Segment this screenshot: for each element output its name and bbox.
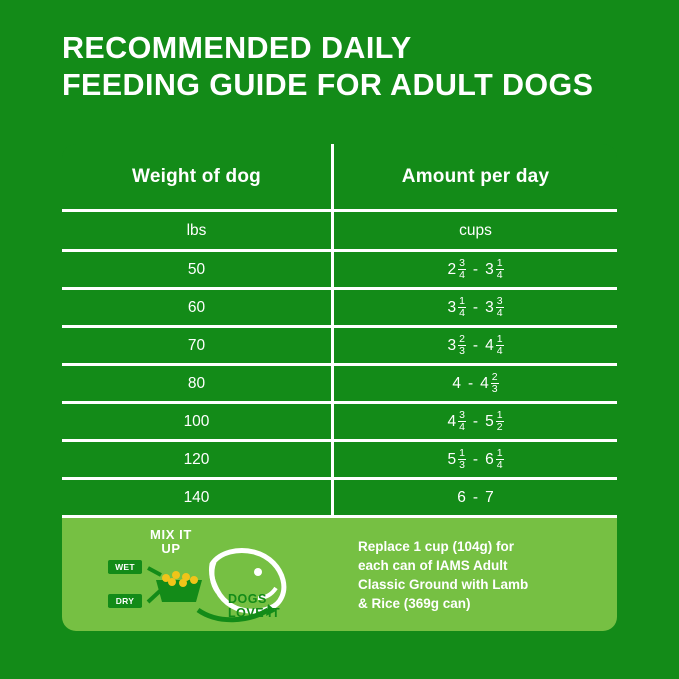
amount-range: 3 2 3 - 4 1 4 [447, 334, 503, 357]
table-row: 70 3 2 3 - 4 1 4 [62, 328, 617, 366]
amount-range: 5 1 3 - 6 1 4 [447, 448, 503, 471]
low-denominator: 4 [458, 269, 466, 281]
page-title-line-2: FEEDING GUIDE FOR ADULT DOGS [62, 67, 662, 104]
low-numerator: 1 [458, 296, 466, 307]
table-row: 120 5 1 3 - 6 1 4 [62, 442, 617, 480]
high-whole: 6 [485, 452, 494, 468]
high-whole: 4 [485, 338, 494, 354]
low-denominator: 3 [458, 345, 466, 357]
low-whole: 5 [447, 452, 456, 468]
low-whole: 6 [457, 490, 466, 506]
row-weight: 80 [62, 366, 334, 401]
page-title-line-1: RECOMMENDED DAILY [62, 30, 662, 67]
row-amount: 4 - 4 2 3 [334, 366, 617, 401]
feeding-guide-page: RECOMMENDED DAILY FEEDING GUIDE FOR ADUL… [0, 0, 679, 679]
low-fraction: 1 4 [458, 296, 466, 319]
range-dash: - [466, 414, 485, 430]
high-fraction: 1 4 [496, 258, 504, 281]
low-whole: 2 [447, 262, 456, 278]
table-row: 140 6 - 7 [62, 480, 617, 518]
row-amount: 3 2 3 - 4 1 4 [334, 328, 617, 363]
table-units-row: lbs cups [62, 212, 617, 252]
row-amount: 5 1 3 - 6 1 4 [334, 442, 617, 477]
units-amount: cups [334, 212, 617, 249]
low-numerator: 2 [458, 334, 466, 345]
row-weight: 140 [62, 480, 334, 515]
row-weight: 70 [62, 328, 334, 363]
high-whole: 4 [480, 376, 489, 392]
table-header-weight: Weight of dog [62, 144, 334, 209]
high-whole: 3 [485, 262, 494, 278]
high-fraction: 1 2 [496, 410, 504, 433]
table-header-row: Weight of dog Amount per day [62, 144, 617, 212]
table-row: 100 4 3 4 - 5 1 2 [62, 404, 617, 442]
replacement-note: Replace 1 cup (104g) for each can of IAM… [334, 518, 617, 631]
mix-it-up-title-line-2: UP [161, 541, 180, 556]
high-fraction: 3 4 [496, 296, 504, 319]
dogs-love-it-label: DOGS LOVE IT [228, 592, 328, 620]
low-numerator: 1 [458, 448, 466, 459]
dry-food-tag: DRY [108, 594, 142, 608]
low-denominator: 4 [458, 307, 466, 319]
low-fraction: 3 4 [458, 410, 466, 433]
high-numerator: 3 [496, 296, 504, 307]
high-numerator: 2 [491, 372, 499, 383]
footer-panel: MIX IT UP WET DRY DOGS LOVE IT Replace 1… [62, 518, 617, 631]
table-row: 50 2 3 4 - 3 1 4 [62, 252, 617, 290]
replacement-note-text: Replace 1 cup (104g) for each can of IAM… [358, 537, 528, 613]
dogs-love-it-line-1: DOGS [228, 592, 267, 606]
high-denominator: 2 [496, 421, 504, 433]
range-dash: - [466, 262, 485, 278]
row-amount: 3 1 4 - 3 3 4 [334, 290, 617, 325]
row-weight: 120 [62, 442, 334, 477]
feeding-table: Weight of dog Amount per day lbs cups 50… [62, 144, 617, 631]
mix-it-up-graphic: MIX IT UP WET DRY DOGS LOVE IT [62, 518, 334, 631]
amount-range: 2 3 4 - 3 1 4 [447, 258, 503, 281]
table-header-amount: Amount per day [334, 144, 617, 209]
low-fraction: 3 4 [458, 258, 466, 281]
low-denominator: 4 [458, 421, 466, 433]
high-fraction: 2 3 [491, 372, 499, 395]
high-numerator: 1 [496, 258, 504, 269]
amount-range: 4 - 4 2 3 [452, 372, 498, 395]
page-title: RECOMMENDED DAILY FEEDING GUIDE FOR ADUL… [62, 30, 662, 104]
high-numerator: 1 [496, 410, 504, 421]
high-denominator: 4 [496, 459, 504, 471]
high-fraction: 1 4 [496, 334, 504, 357]
table-row: 60 3 1 4 - 3 3 4 [62, 290, 617, 328]
low-whole: 4 [447, 414, 456, 430]
note-line-1: Replace 1 cup (104g) for [358, 539, 514, 554]
high-whole: 5 [485, 414, 494, 430]
high-denominator: 4 [496, 269, 504, 281]
high-denominator: 4 [496, 307, 504, 319]
row-amount: 2 3 4 - 3 1 4 [334, 252, 617, 287]
low-numerator: 3 [458, 258, 466, 269]
low-whole: 4 [452, 376, 461, 392]
low-fraction: 2 3 [458, 334, 466, 357]
low-fraction: 1 3 [458, 448, 466, 471]
low-numerator: 3 [458, 410, 466, 421]
range-dash: - [466, 338, 485, 354]
low-whole: 3 [447, 338, 456, 354]
units-weight: lbs [62, 212, 334, 249]
row-weight: 60 [62, 290, 334, 325]
range-dash: - [466, 452, 485, 468]
high-denominator: 4 [496, 345, 504, 357]
row-amount: 4 3 4 - 5 1 2 [334, 404, 617, 439]
note-line-3: Classic Ground with Lamb [358, 577, 528, 592]
row-weight: 50 [62, 252, 334, 287]
amount-range: 3 1 4 - 3 3 4 [447, 296, 503, 319]
low-whole: 3 [447, 300, 456, 316]
range-dash: - [461, 376, 480, 392]
amount-range: 4 3 4 - 5 1 2 [447, 410, 503, 433]
wet-food-tag: WET [108, 560, 142, 574]
dogs-love-it-line-2: LOVE IT [228, 606, 280, 620]
low-denominator: 3 [458, 459, 466, 471]
range-dash: - [466, 300, 485, 316]
mix-it-up-title-line-1: MIX IT [150, 527, 192, 542]
high-numerator: 1 [496, 448, 504, 459]
note-line-2: each can of IAMS Adult [358, 558, 508, 573]
high-fraction: 1 4 [496, 448, 504, 471]
high-numerator: 1 [496, 334, 504, 345]
row-weight: 100 [62, 404, 334, 439]
mix-it-up-title: MIX IT UP [126, 528, 216, 556]
high-whole: 7 [485, 490, 494, 506]
range-dash: - [466, 490, 485, 506]
row-amount: 6 - 7 [334, 480, 617, 515]
high-denominator: 3 [491, 383, 499, 395]
amount-range: 6 - 7 [457, 490, 493, 506]
table-row: 80 4 - 4 2 3 [62, 366, 617, 404]
note-line-4: & Rice (369g can) [358, 596, 471, 611]
high-whole: 3 [485, 300, 494, 316]
